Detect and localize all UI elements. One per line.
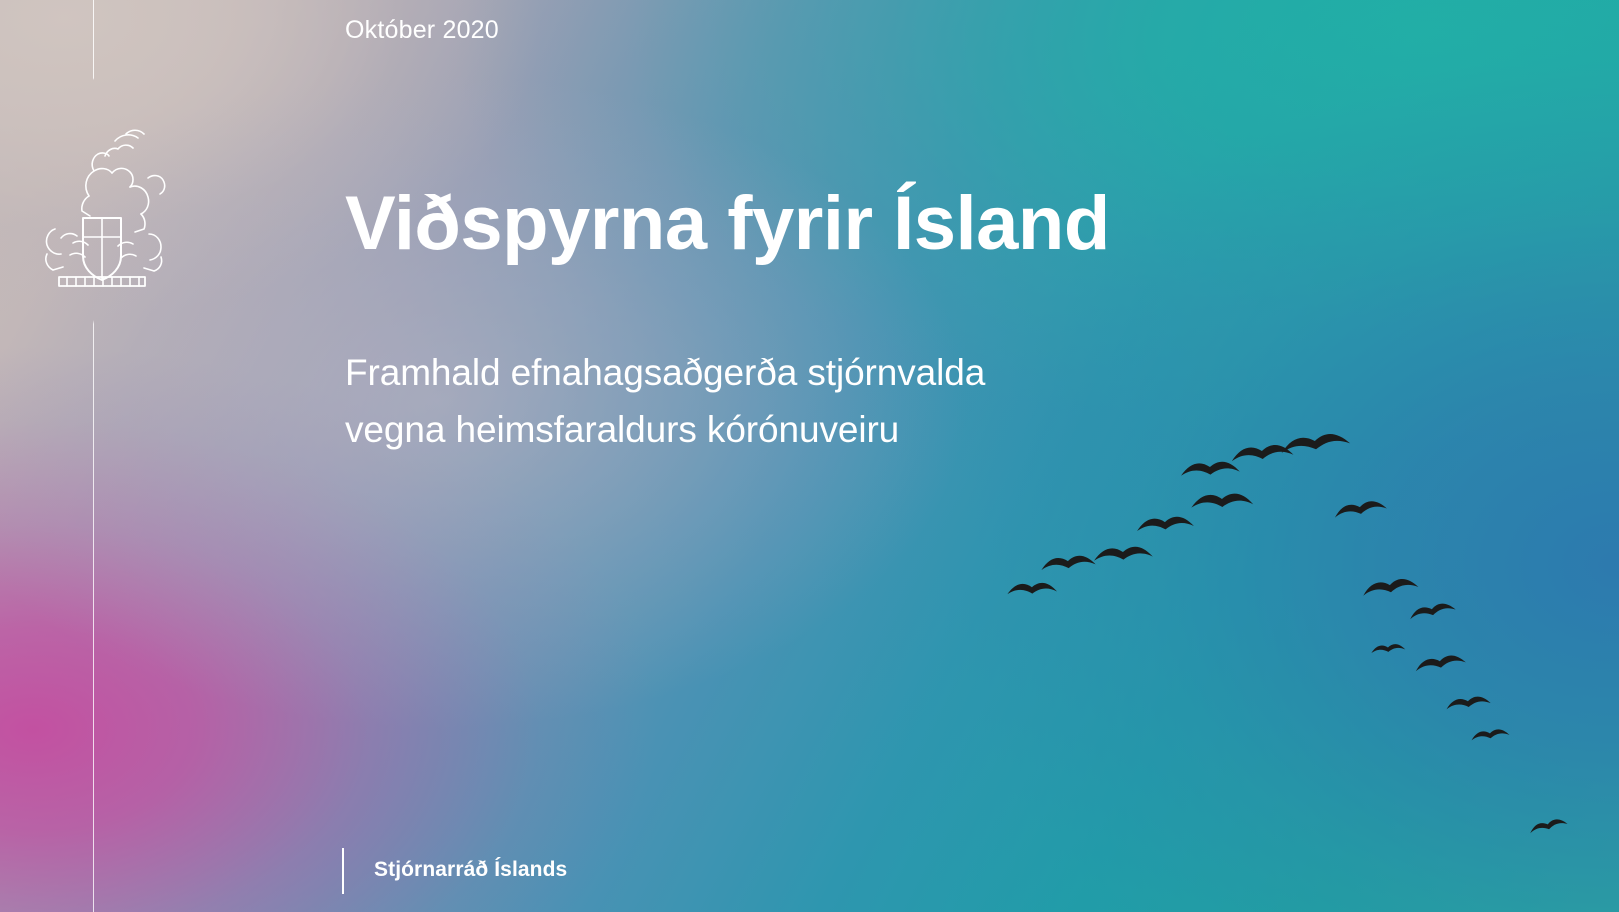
page-subtitle-line-2: vegna heimsfaraldurs kórónuveiru xyxy=(345,401,985,458)
coat-of-arms-icon xyxy=(27,122,177,288)
cover-page: Október 2020 Viðspyrna fyrir Ísland Fram… xyxy=(0,0,1619,912)
footer-divider xyxy=(342,848,344,894)
page-title: Viðspyrna fyrir Ísland xyxy=(345,178,1110,270)
page-subtitle: Framhald efnahagsaðgerða stjórnvalda veg… xyxy=(345,344,985,458)
cover-date: Október 2020 xyxy=(345,15,499,45)
page-subtitle-line-1: Framhald efnahagsaðgerða stjórnvalda xyxy=(345,344,985,401)
footer-organization-label: Stjórnarráð Íslands xyxy=(374,858,567,884)
footer-brand: Stjórnarráð Íslands xyxy=(342,847,567,895)
